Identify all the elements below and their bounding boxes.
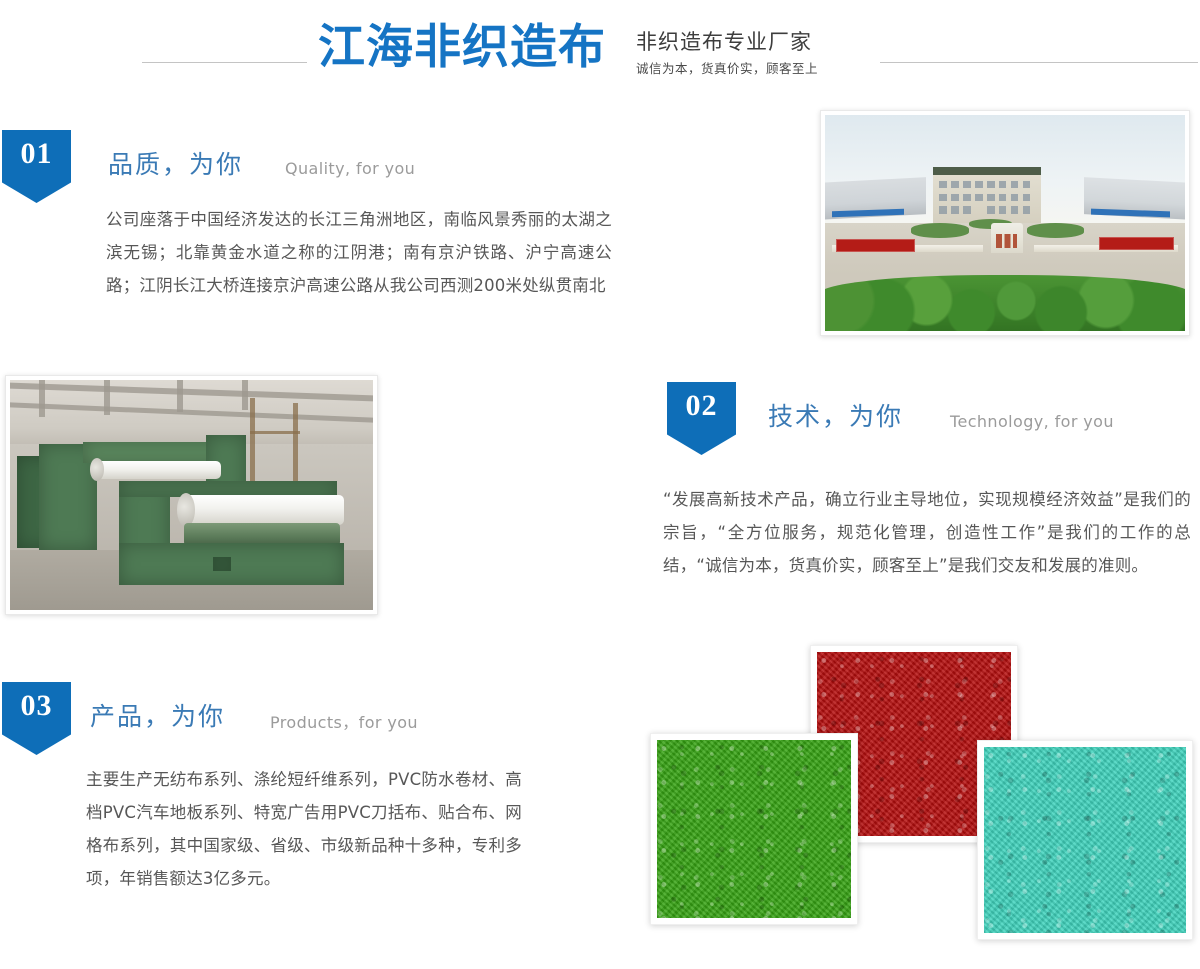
brand-title: 江海非织造布 bbox=[318, 20, 606, 76]
green-swatch bbox=[650, 733, 858, 925]
machine-photo-image bbox=[10, 380, 373, 610]
section-title-zh-02: 技术，为你 bbox=[768, 400, 903, 434]
header-rule-left bbox=[142, 62, 307, 63]
turquoise-swatch-fill bbox=[984, 747, 1186, 933]
header-rule-right bbox=[880, 62, 1198, 63]
section-badge-01: 01 bbox=[2, 130, 71, 203]
turquoise-swatch bbox=[977, 740, 1193, 940]
section-body-01: 公司座落于中国经济发达的长江三角洲地区，南临风景秀丽的太湖之滨无锡；北靠黄金水道… bbox=[106, 203, 612, 302]
factory-tree-line bbox=[825, 275, 1185, 331]
brand-side-text: 非织造布专业厂家 诚信为本，货真价实，顾客至上 bbox=[636, 28, 866, 78]
factory-sign-right bbox=[1099, 237, 1175, 250]
brand-tagline: 非织造布专业厂家 bbox=[636, 28, 866, 56]
green-swatch-fill bbox=[657, 740, 851, 918]
section-badge-03: 03 bbox=[2, 682, 71, 755]
factory-guard-kiosk bbox=[991, 223, 1023, 253]
section-title-zh-01: 品质，为你 bbox=[108, 148, 243, 182]
section-body-03: 主要生产无纺布系列、涤纶短纤维系列，PVC防水卷材、高档PVC汽车地板系列、特宽… bbox=[86, 763, 522, 895]
promo-page: 江海非织造布 非织造布专业厂家 诚信为本，货真价实，顾客至上 01 品质，为你 … bbox=[0, 0, 1200, 969]
factory-photo bbox=[820, 110, 1190, 336]
section-title-zh-03: 产品，为你 bbox=[90, 700, 225, 734]
section-title-en-02: Technology, for you bbox=[950, 405, 1114, 439]
brand-slogan: 诚信为本，货真价实，顾客至上 bbox=[636, 60, 866, 78]
factory-photo-image bbox=[825, 115, 1185, 331]
section-title-en-01: Quality, for you bbox=[285, 152, 415, 186]
section-badge-02: 02 bbox=[667, 382, 736, 455]
factory-main-building bbox=[933, 167, 1041, 223]
factory-sign-left bbox=[836, 239, 915, 252]
section-body-02: “发展高新技术产品，确立行业主导地位，实现规模经济效益”是我们的宗旨，“全方位服… bbox=[663, 483, 1191, 582]
page-header: 江海非织造布 非织造布专业厂家 诚信为本，货真价实，顾客至上 bbox=[0, 0, 1200, 100]
section-title-en-03: Products，for you bbox=[270, 706, 418, 740]
machine-photo bbox=[5, 375, 378, 615]
